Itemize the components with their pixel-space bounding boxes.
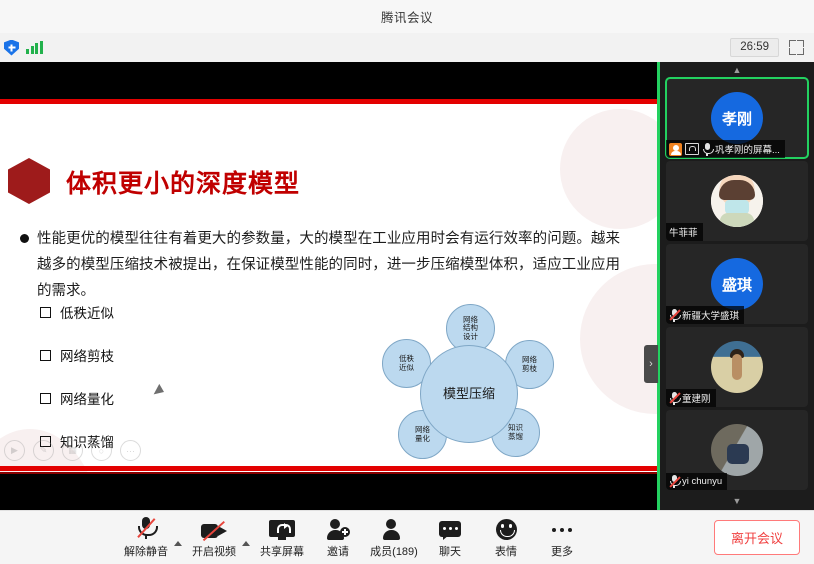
pen-icon[interactable]: ✎ bbox=[33, 440, 54, 461]
participant-tile[interactable]: 盛琪 新疆大学盛琪 bbox=[666, 244, 808, 324]
window-title: 腾讯会议 bbox=[381, 7, 433, 26]
participant-rail[interactable]: ▲ 孝刚 巩孝刚的屏幕... 牛菲菲 bbox=[660, 62, 814, 510]
invite-button[interactable]: 邀请 bbox=[310, 516, 366, 559]
microphone-muted-icon bbox=[669, 392, 679, 405]
meeting-timer: 26:59 bbox=[730, 38, 779, 57]
participant-tile[interactable]: yi chunyu bbox=[666, 410, 808, 490]
list-item: 网络剪枝 bbox=[40, 345, 141, 365]
presentation-slide: 体积更小的深度模型 性能更优的模型往往有着更大的参数量，大的模型在工业应用时会有… bbox=[0, 99, 657, 474]
participant-tile[interactable]: 童建刚 bbox=[666, 327, 808, 407]
invite-label: 邀请 bbox=[327, 543, 349, 559]
slide-hexagon-bullet-icon bbox=[8, 158, 50, 204]
emoji-button[interactable]: 表情 bbox=[478, 516, 534, 559]
avatar bbox=[711, 175, 763, 227]
participant-name: 巩孝刚的屏幕... bbox=[715, 142, 780, 156]
list-item-label: 网络剪枝 bbox=[60, 345, 114, 365]
play-icon[interactable]: ▶ bbox=[4, 440, 25, 461]
microphone-muted-icon bbox=[137, 516, 155, 540]
more-icon bbox=[552, 516, 572, 540]
list-item-label: 网络量化 bbox=[60, 388, 114, 408]
list-item-label: 低秩近似 bbox=[60, 302, 114, 322]
checkbox-square-icon bbox=[40, 393, 51, 404]
slides-grid-icon[interactable]: ▦ bbox=[62, 440, 83, 461]
chevron-up-icon[interactable]: ▲ bbox=[660, 62, 814, 78]
status-left-group bbox=[0, 40, 43, 56]
emoji-icon bbox=[496, 516, 517, 540]
screen-share-icon bbox=[685, 143, 699, 155]
presentation-mini-toolbar[interactable]: ▶ ✎ ▦ ○ ··· bbox=[4, 440, 141, 461]
list-item: 低秩近似 bbox=[40, 302, 141, 322]
participants-icon bbox=[383, 516, 405, 540]
chat-button[interactable]: 聊天 bbox=[422, 516, 478, 559]
mute-toggle-button[interactable]: 解除静音 bbox=[118, 516, 174, 559]
slide-bottom-rule-dark bbox=[0, 472, 657, 474]
video-toggle-button[interactable]: 开启视频 bbox=[186, 516, 242, 559]
avatar bbox=[711, 424, 763, 476]
avatar: 孝刚 bbox=[711, 92, 763, 144]
participant-name-bar: 巩孝刚的屏幕... bbox=[666, 140, 785, 158]
shared-screen-view[interactable]: 体积更小的深度模型 性能更优的模型往往有着更大的参数量，大的模型在工业应用时会有… bbox=[0, 62, 660, 510]
microphone-muted-icon bbox=[669, 309, 679, 322]
share-screen-icon bbox=[269, 516, 295, 540]
meeting-stage: 体积更小的深度模型 性能更优的模型往往有着更大的参数量，大的模型在工业应用时会有… bbox=[0, 62, 814, 510]
participant-name: 牛菲菲 bbox=[669, 225, 698, 239]
video-toggle-label: 开启视频 bbox=[192, 543, 236, 559]
fullscreen-icon[interactable] bbox=[789, 40, 804, 55]
more-button[interactable]: 更多 bbox=[534, 516, 590, 559]
emoji-label: 表情 bbox=[495, 543, 517, 559]
participant-name-bar: 童建刚 bbox=[666, 389, 716, 407]
status-right-group: 26:59 bbox=[730, 38, 814, 57]
slide-watermark-shape bbox=[560, 109, 657, 229]
participant-name-bar: yi chunyu bbox=[666, 473, 727, 490]
toolbar-actions: 解除静音 开启视频 共享屏幕 邀请 bbox=[118, 516, 590, 559]
slide-bottom-rule bbox=[0, 466, 657, 471]
checkbox-square-icon bbox=[40, 350, 51, 361]
list-item: 网络量化 bbox=[40, 388, 141, 408]
audio-options-caret-icon[interactable] bbox=[174, 541, 182, 546]
invite-person-icon bbox=[327, 516, 349, 540]
participant-name: 新疆大学盛琪 bbox=[682, 308, 739, 322]
slide-paragraph: 性能更优的模型往往有着更大的参数量，大的模型在工业应用时会有运行效率的问题。越来… bbox=[20, 226, 620, 304]
meeting-toolbar: 解除静音 开启视频 共享屏幕 邀请 bbox=[0, 510, 814, 564]
meeting-status-bar: 26:59 bbox=[0, 33, 814, 63]
chat-label: 聊天 bbox=[439, 543, 461, 559]
slide-paragraph-text: 性能更优的模型往往有着更大的参数量，大的模型在工业应用时会有运行效率的问题。越来… bbox=[37, 226, 620, 304]
model-compression-diagram: 网络结构设计 网络剪枝 知识蒸馏 网络量化 低秩近似 模型压缩 bbox=[378, 304, 563, 474]
signal-bars-icon[interactable] bbox=[26, 41, 43, 54]
leave-meeting-button[interactable]: 离开会议 bbox=[714, 520, 800, 555]
participant-tile[interactable]: 孝刚 巩孝刚的屏幕... bbox=[666, 78, 808, 158]
zoom-in-icon[interactable]: ○ bbox=[91, 440, 112, 461]
tencent-meeting-window: 腾讯会议 26:59 体积更小的深度模型 bbox=[0, 0, 814, 563]
share-screen-button[interactable]: 共享屏幕 bbox=[254, 516, 310, 559]
window-title-bar: 腾讯会议 bbox=[0, 0, 814, 34]
collapse-panel-button[interactable]: › bbox=[644, 345, 658, 383]
diagram-center-node: 模型压缩 bbox=[420, 345, 518, 443]
mute-toggle-label: 解除静音 bbox=[124, 543, 168, 559]
participants-label: 成员(189) bbox=[370, 543, 418, 559]
participant-name-bar: 新疆大学盛琪 bbox=[666, 306, 744, 324]
chat-icon bbox=[439, 516, 461, 540]
participants-button[interactable]: 成员(189) bbox=[366, 516, 422, 559]
participant-name: yi chunyu bbox=[682, 476, 722, 487]
avatar bbox=[711, 341, 763, 393]
chevron-down-icon[interactable]: ▼ bbox=[660, 493, 814, 509]
host-icon bbox=[669, 143, 682, 156]
avatar: 盛琪 bbox=[711, 258, 763, 310]
more-label: 更多 bbox=[551, 543, 573, 559]
camera-off-icon bbox=[201, 516, 227, 540]
microphone-icon bbox=[702, 143, 712, 156]
video-options-caret-icon[interactable] bbox=[242, 541, 250, 546]
participant-name: 童建刚 bbox=[682, 391, 711, 405]
checkbox-square-icon bbox=[40, 307, 51, 318]
shield-icon[interactable] bbox=[4, 40, 19, 56]
slide-title: 体积更小的深度模型 bbox=[66, 164, 300, 200]
share-screen-label: 共享屏幕 bbox=[260, 543, 304, 559]
shared-screen-active-border bbox=[657, 62, 660, 510]
microphone-muted-icon bbox=[669, 475, 679, 488]
participant-tile[interactable]: 牛菲菲 bbox=[666, 161, 808, 241]
slide-top-rule bbox=[0, 99, 657, 104]
more-icon[interactable]: ··· bbox=[120, 440, 141, 461]
bullet-dot-icon bbox=[20, 234, 29, 243]
participant-name-bar: 牛菲菲 bbox=[666, 223, 703, 241]
